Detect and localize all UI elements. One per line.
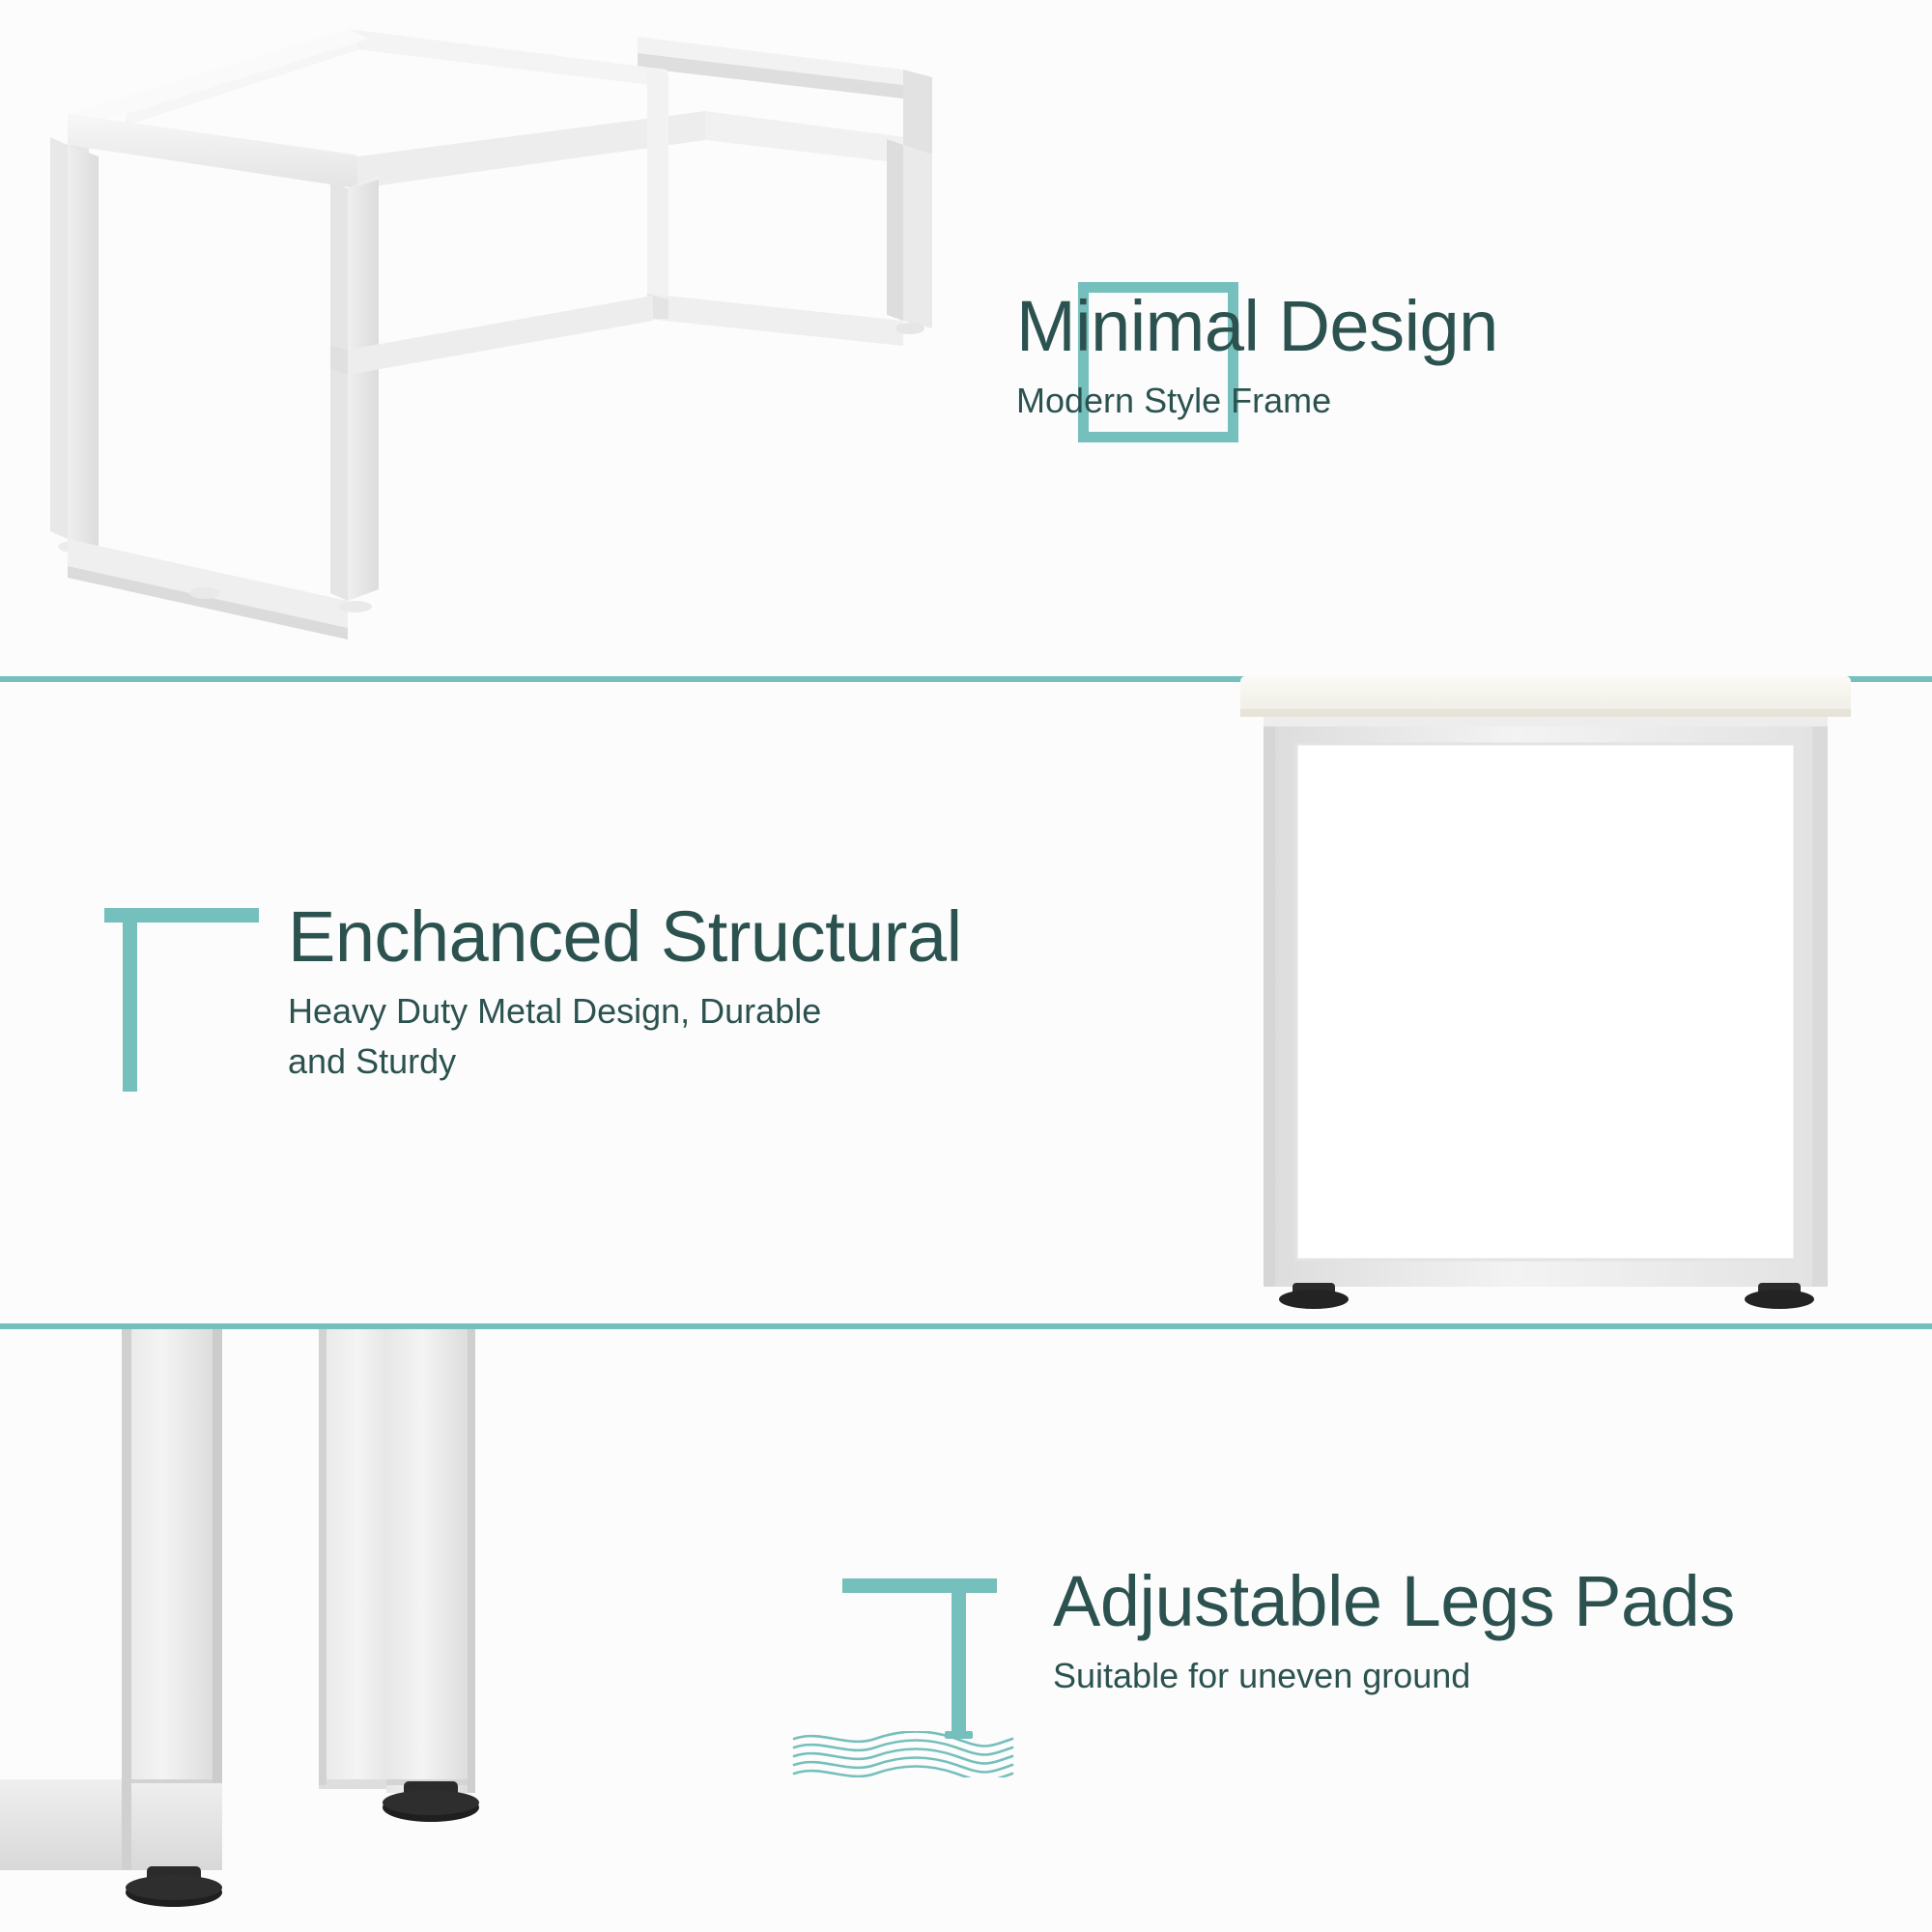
product-infographic: Minimal Design Modern Style Frame [0,0,1932,1932]
feature-subtitle: Modern Style Frame [1016,376,1498,425]
feature-title: Minimal Design [1016,290,1498,362]
feature-text-enchanced-structural: Enchanced Structural Heavy Duty Metal De… [288,900,962,1086]
feature-subtitle: Suitable for uneven ground [1053,1651,1735,1700]
feature-subtitle: Heavy Duty Metal Design, Durable and Stu… [288,986,962,1085]
t-frame-on-waves-icon [842,1578,997,1772]
desk-side-frame-image [1236,676,1855,1323]
t-icon-vertical-bar [123,908,137,1092]
feature-title: Enchanced Structural [288,900,962,973]
feature-subtitle-line-2: and Sturdy [288,1037,962,1086]
feature-subtitle-line-1: Heavy Duty Metal Design, Durable [288,986,962,1036]
foot-pad [126,1866,222,1907]
t-icon-vertical-bar [952,1578,966,1733]
feature-title: Adjustable Legs Pads [1053,1565,1735,1637]
uneven-ground-waves-icon [792,1731,1014,1777]
feature-text-minimal-design: Minimal Design Modern Style Frame [1016,290,1498,426]
t-frame-icon [104,908,259,1092]
desk-legs-with-pads-image [0,1329,696,1932]
desk-frame-perspective-image [29,10,956,667]
t-icon-horizontal-bar [842,1578,997,1593]
feature-text-adjustable-legs-pads: Adjustable Legs Pads Suitable for uneven… [1053,1565,1735,1701]
